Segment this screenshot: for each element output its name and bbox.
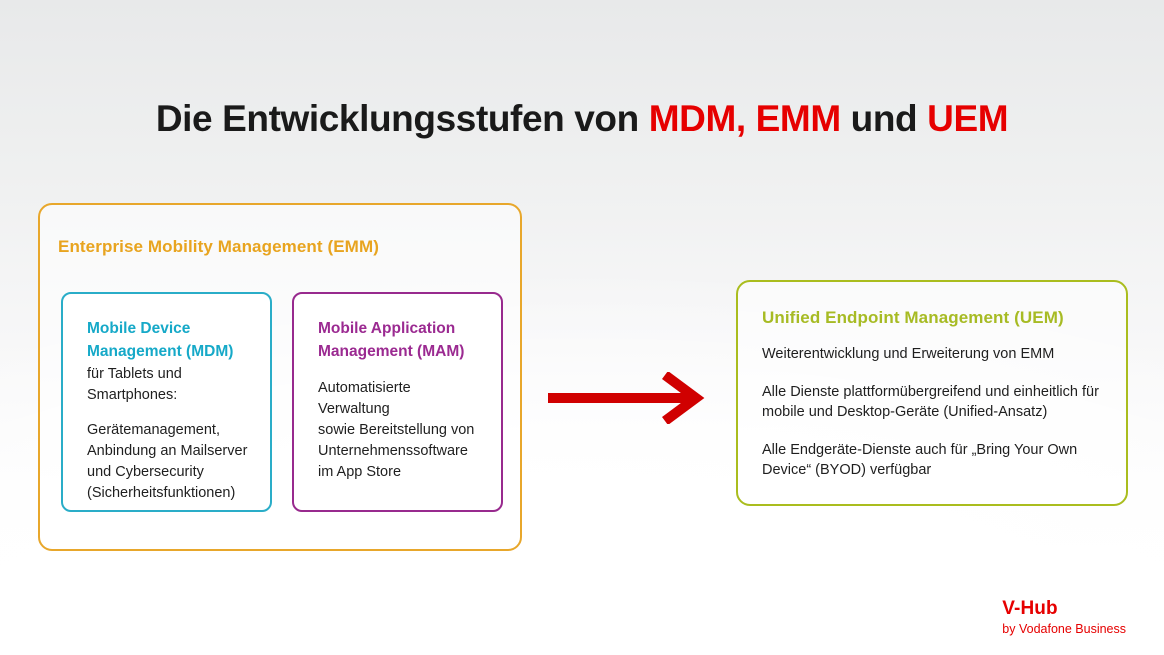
mam-card: Mobile Application Management (MAM) Auto… [292,292,503,512]
mam-body-primary: Automatisierte Verwaltung sowie Bereitst… [318,378,481,483]
title-conjunction: und [841,98,927,139]
uem-card: Unified Endpoint Management (UEM) Weiter… [736,280,1128,506]
page-title: Die Entwicklungsstufen von MDM, EMM und … [0,98,1164,140]
slide-canvas: Die Entwicklungsstufen von MDM, EMM und … [0,0,1164,655]
mdm-card: Mobile Device Management (MDM) für Table… [61,292,272,512]
uem-paragraph-3: Alle Endgeräte-Dienste auch für „Bring Y… [762,440,1100,481]
right-arrow-icon [546,372,706,424]
title-space-1 [746,98,756,139]
mam-heading: Mobile Application Management (MAM) [318,318,481,364]
title-accent-emm: EMM [756,98,841,139]
uem-paragraph-1: Weiterentwicklung und Erweiterung von EM… [762,344,1100,365]
title-accent-uem: UEM [927,98,1008,139]
mdm-body-primary: für Tablets und Smartphones: [87,364,250,406]
vhub-logo: V-Hub by Vodafone Business [1002,599,1126,637]
vhub-logo-subtitle: by Vodafone Business [1002,621,1126,637]
uem-paragraph-2: Alle Dienste plattformübergreifend und e… [762,382,1100,423]
title-lead: Die Entwicklungsstufen von [156,98,649,139]
mdm-heading: Mobile Device Management (MDM) [87,318,250,364]
emm-heading: Enterprise Mobility Management (EMM) [58,237,379,257]
mdm-body-secondary: Gerätemanagement, Anbindung an Mailserve… [87,420,250,504]
vhub-logo-title: V-Hub [1002,599,1126,620]
uem-heading: Unified Endpoint Management (UEM) [762,308,1100,328]
title-accent-mdm: MDM, [649,98,746,139]
